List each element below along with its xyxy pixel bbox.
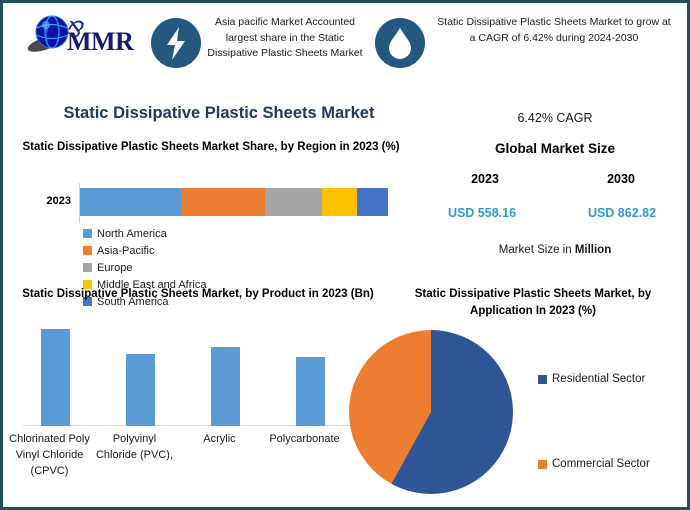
market-size-unit-prefix: Market Size in bbox=[499, 244, 575, 256]
region-stacked-bar bbox=[80, 188, 388, 216]
application-legend-label: Commercial Sector bbox=[552, 456, 650, 472]
product-category-labels: Chlorinated Poly Vinyl Chloride (CPVC)Po… bbox=[7, 431, 389, 479]
region-segment bbox=[80, 188, 181, 216]
region-segment bbox=[322, 188, 357, 216]
application-share-chart: Static Dissipative Plastic Sheets Market… bbox=[389, 286, 689, 510]
legend-swatch-icon bbox=[538, 375, 547, 384]
region-legend-label: Europe bbox=[97, 262, 132, 274]
product-bar bbox=[41, 329, 70, 426]
lightning-bolt-icon bbox=[151, 18, 201, 68]
market-size-unit-note: Market Size in Million bbox=[423, 244, 687, 256]
application-pie bbox=[349, 330, 513, 494]
region-segment bbox=[181, 188, 266, 216]
region-legend-label: North America bbox=[97, 228, 167, 240]
application-legend-item: Residential Sector bbox=[538, 371, 645, 387]
region-legend-item: North America bbox=[83, 225, 251, 242]
region-legend-item: Asia-Pacific bbox=[83, 242, 251, 259]
region-segment bbox=[357, 188, 388, 216]
page-title: Static Dissipative Plastic Sheets Market bbox=[19, 104, 419, 123]
market-size-value-forecast: USD 862.82 bbox=[567, 206, 677, 220]
product-chart-title: Static Dissipative Plastic Sheets Market… bbox=[7, 286, 389, 303]
global-market-size-heading: Global Market Size bbox=[423, 141, 687, 156]
header-highlight-1: Asia pacific Market Accounted largest sh… bbox=[151, 9, 363, 85]
market-size-values: USD 558.16 USD 862.82 bbox=[423, 206, 687, 228]
product-category-label: Acrylic bbox=[177, 431, 262, 479]
legend-swatch-icon bbox=[83, 229, 92, 238]
region-segment bbox=[265, 188, 322, 216]
market-size-year-base: 2023 bbox=[435, 172, 535, 186]
market-size-unit: Million bbox=[575, 244, 611, 256]
application-legend-item: Commercial Sector bbox=[538, 456, 658, 472]
legend-swatch-icon bbox=[83, 263, 92, 272]
legend-swatch-icon bbox=[538, 460, 547, 469]
header-bar: ⅋ MMR Asia pacific Market Accounted larg… bbox=[3, 3, 687, 91]
market-size-year-forecast: 2030 bbox=[571, 172, 671, 186]
header-highlight-2: Static Dissipative Plastic Sheets Market… bbox=[375, 9, 675, 85]
infographic-canvas: ⅋ MMR Asia pacific Market Accounted larg… bbox=[0, 0, 690, 510]
product-category-label: Chlorinated Poly Vinyl Chloride (CPVC) bbox=[7, 431, 92, 479]
market-size-value-base: USD 558.16 bbox=[427, 206, 537, 220]
cagr-value: 6.42% CAGR bbox=[423, 111, 687, 125]
region-chart-title: Static Dissipative Plastic Sheets Market… bbox=[11, 139, 411, 156]
logo-text: MMR bbox=[67, 27, 133, 57]
market-size-years: 2023 2030 bbox=[423, 172, 687, 194]
header-highlight-1-text: Asia pacific Market Accounted largest sh… bbox=[207, 15, 363, 62]
brand-logo: ⅋ MMR bbox=[15, 11, 145, 73]
flame-icon bbox=[375, 18, 425, 68]
region-legend-item: Europe bbox=[83, 259, 251, 276]
region-share-chart: Static Dissipative Plastic Sheets Market… bbox=[11, 139, 411, 279]
global-market-size-panel: 6.42% CAGR Global Market Size 2023 2030 … bbox=[423, 103, 687, 263]
application-legend-label: Residential Sector bbox=[552, 371, 645, 387]
region-legend-label: Asia-Pacific bbox=[97, 245, 154, 257]
product-bar bbox=[211, 347, 240, 426]
product-category-label: Polyvinyl Chloride (PVC), bbox=[92, 431, 177, 479]
header-highlight-2-text: Static Dissipative Plastic Sheets Market… bbox=[437, 15, 671, 46]
product-category-label: Polycarbonate bbox=[262, 431, 347, 479]
legend-swatch-icon bbox=[83, 246, 92, 255]
product-share-chart: Static Dissipative Plastic Sheets Market… bbox=[7, 286, 389, 510]
region-plot-area: 2023 bbox=[11, 183, 411, 223]
product-bar bbox=[296, 357, 325, 426]
region-category-label: 2023 bbox=[25, 195, 71, 207]
application-legend: Residential SectorCommercial Sector bbox=[534, 286, 689, 510]
product-plot-area bbox=[7, 322, 389, 426]
product-bar bbox=[126, 354, 155, 426]
